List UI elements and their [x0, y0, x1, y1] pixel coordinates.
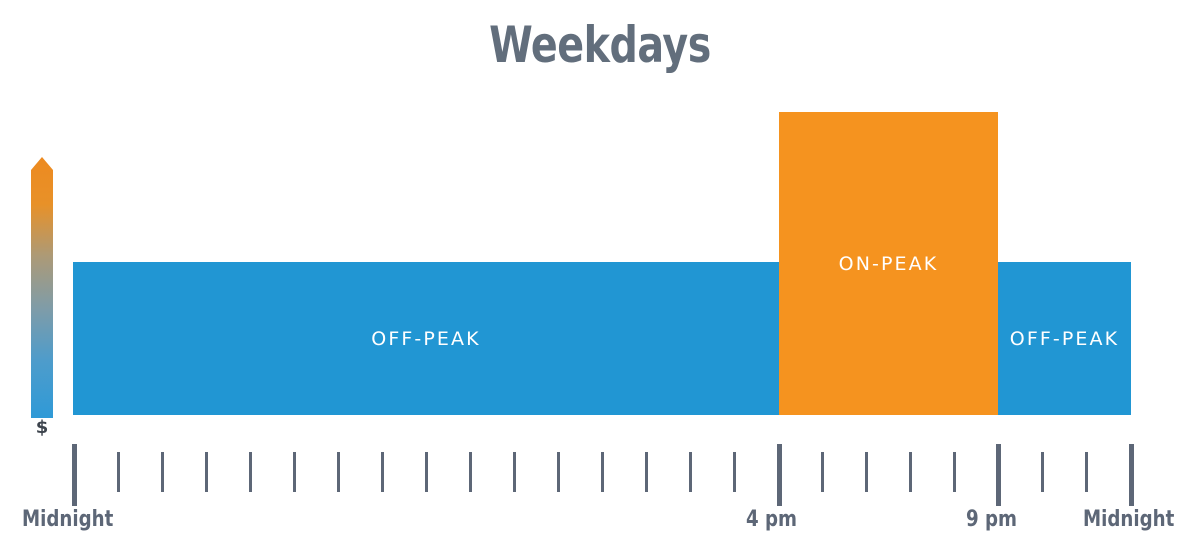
axis-label-4pm: 4 pm — [746, 509, 797, 531]
axis-tick-major-9pm — [996, 444, 1001, 506]
axis-tick-major-midnight-start — [72, 444, 77, 506]
axis-tick-minor-11 — [557, 452, 560, 492]
axis-tick-minor-4 — [249, 452, 252, 492]
axis-tick-minor-15 — [733, 452, 736, 492]
axis-tick-major-midnight-end — [1129, 444, 1134, 506]
time-axis: Midnight 4 pm 9 pm Midnight — [0, 0, 1200, 560]
axis-label-9pm: 9 pm — [966, 509, 1017, 531]
axis-tick-minor-18 — [865, 452, 868, 492]
axis-tick-minor-2 — [161, 452, 164, 492]
axis-tick-minor-17 — [821, 452, 824, 492]
axis-tick-minor-12 — [601, 452, 604, 492]
chart-canvas: Weekdays $ OFF-PEAK ON-PEAK — [0, 0, 1200, 560]
axis-tick-minor-8 — [425, 452, 428, 492]
axis-tick-minor-5 — [293, 452, 296, 492]
axis-label-midnight-end: Midnight — [1083, 509, 1174, 531]
axis-tick-minor-20 — [953, 452, 956, 492]
axis-tick-minor-19 — [909, 452, 912, 492]
axis-tick-minor-22 — [1041, 452, 1044, 492]
axis-tick-minor-9 — [469, 452, 472, 492]
axis-tick-minor-13 — [645, 452, 648, 492]
axis-label-midnight-start: Midnight — [22, 509, 113, 531]
axis-tick-minor-10 — [513, 452, 516, 492]
axis-tick-minor-23 — [1085, 452, 1088, 492]
axis-tick-minor-7 — [381, 452, 384, 492]
axis-tick-minor-6 — [337, 452, 340, 492]
axis-tick-minor-3 — [205, 452, 208, 492]
axis-tick-minor-1 — [117, 452, 120, 492]
axis-tick-major-4pm — [777, 444, 782, 506]
axis-tick-minor-14 — [689, 452, 692, 492]
